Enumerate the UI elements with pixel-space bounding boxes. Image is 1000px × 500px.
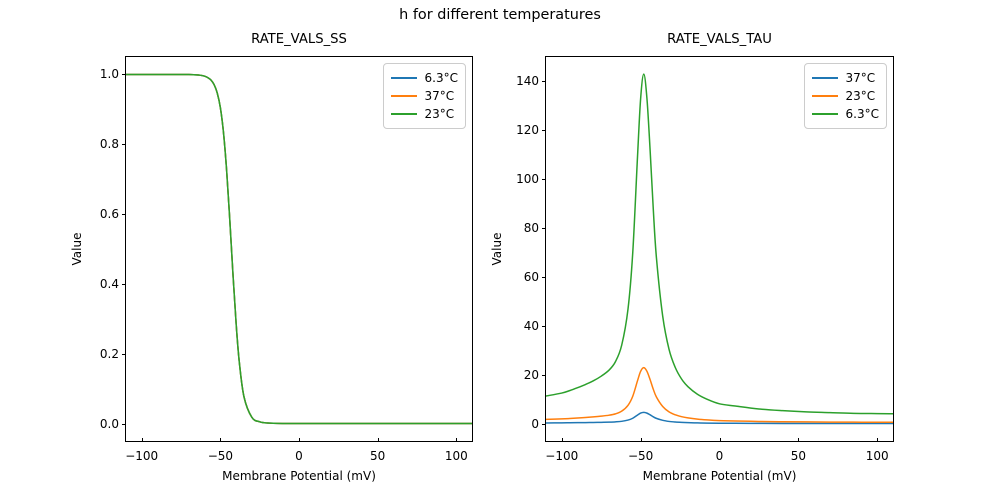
legend-entry[interactable]: 37°C xyxy=(391,87,458,105)
x-tick-mark xyxy=(142,438,143,442)
axes-right-title: RATE_VALS_TAU xyxy=(546,32,893,47)
x-tick-mark xyxy=(641,438,642,442)
y-tick-mark xyxy=(542,375,546,376)
x-tick-label: −50 xyxy=(208,449,233,463)
y-tick-mark xyxy=(542,179,546,180)
y-tick-label: 100 xyxy=(516,172,539,186)
x-tick-mark xyxy=(299,438,300,442)
y-tick-mark xyxy=(542,424,546,425)
x-tick-mark xyxy=(220,438,221,442)
y-tick-mark xyxy=(542,81,546,82)
y-tick-mark xyxy=(542,228,546,229)
axes-left-title: RATE_VALS_SS xyxy=(126,32,472,47)
legend-line-swatch xyxy=(391,113,417,115)
x-tick-label: 0 xyxy=(295,449,303,463)
legend-entry[interactable]: 6.3°C xyxy=(391,69,458,87)
y-tick-mark xyxy=(122,284,126,285)
y-tick-mark xyxy=(542,277,546,278)
y-tick-label: 0 xyxy=(531,417,539,431)
matplotlib-figure: h for different temperatures RATE_VALS_S… xyxy=(0,0,1000,500)
y-tick-mark xyxy=(542,326,546,327)
x-tick-label: −100 xyxy=(125,449,158,463)
y-tick-mark xyxy=(122,354,126,355)
y-tick-label: 1.0 xyxy=(100,67,119,81)
axes-right-ylabel: Value xyxy=(490,233,504,266)
axes-left-legend[interactable]: 6.3°C37°C23°C xyxy=(383,63,466,129)
x-tick-label: 0 xyxy=(716,449,724,463)
x-tick-mark xyxy=(798,438,799,442)
x-tick-label: −100 xyxy=(545,449,578,463)
legend-entry[interactable]: 23°C xyxy=(812,87,879,105)
y-tick-label: 20 xyxy=(524,368,539,382)
axes-left-xlabel: Membrane Potential (mV) xyxy=(126,469,472,483)
legend-label: 23°C xyxy=(846,89,876,103)
axes-right-xlabel: Membrane Potential (mV) xyxy=(546,469,893,483)
axes-rate-vals-ss: RATE_VALS_SS Value Membrane Potential (m… xyxy=(125,56,473,442)
x-tick-label: 50 xyxy=(791,449,806,463)
x-tick-mark xyxy=(720,438,721,442)
y-tick-mark xyxy=(122,424,126,425)
legend-line-swatch xyxy=(812,95,838,97)
figure-suptitle: h for different temperatures xyxy=(0,6,1000,24)
y-tick-mark xyxy=(122,214,126,215)
y-tick-label: 140 xyxy=(516,74,539,88)
x-tick-label: 50 xyxy=(370,449,385,463)
y-tick-label: 0.4 xyxy=(100,277,119,291)
legend-label: 37°C xyxy=(425,89,455,103)
y-tick-mark xyxy=(122,74,126,75)
x-tick-label: 100 xyxy=(445,449,468,463)
y-tick-label: 0.8 xyxy=(100,137,119,151)
legend-line-swatch xyxy=(812,77,838,79)
legend-line-swatch xyxy=(391,95,417,97)
axes-left-ylabel: Value xyxy=(70,233,84,266)
x-tick-mark xyxy=(456,438,457,442)
x-tick-label: 100 xyxy=(866,449,889,463)
y-tick-label: 0.6 xyxy=(100,207,119,221)
y-tick-label: 80 xyxy=(524,221,539,235)
legend-label: 6.3°C xyxy=(846,107,879,121)
legend-entry[interactable]: 23°C xyxy=(391,105,458,123)
x-tick-label: −50 xyxy=(628,449,653,463)
legend-line-swatch xyxy=(391,77,417,79)
legend-label: 23°C xyxy=(425,107,455,121)
y-tick-label: 40 xyxy=(524,319,539,333)
x-tick-mark xyxy=(378,438,379,442)
y-tick-mark xyxy=(122,144,126,145)
y-tick-label: 120 xyxy=(516,123,539,137)
legend-entry[interactable]: 37°C xyxy=(812,69,879,87)
x-tick-mark xyxy=(877,438,878,442)
legend-entry[interactable]: 6.3°C xyxy=(812,105,879,123)
y-tick-label: 0.2 xyxy=(100,347,119,361)
y-tick-label: 60 xyxy=(524,270,539,284)
legend-label: 6.3°C xyxy=(425,71,458,85)
y-tick-label: 0.0 xyxy=(100,417,119,431)
axes-rate-vals-tau: RATE_VALS_TAU Value Membrane Potential (… xyxy=(545,56,894,442)
legend-label: 37°C xyxy=(846,71,876,85)
series-line xyxy=(546,368,893,423)
axes-right-legend[interactable]: 37°C23°C6.3°C xyxy=(804,63,887,129)
legend-line-swatch xyxy=(812,113,838,115)
x-tick-mark xyxy=(562,438,563,442)
y-tick-mark xyxy=(542,130,546,131)
